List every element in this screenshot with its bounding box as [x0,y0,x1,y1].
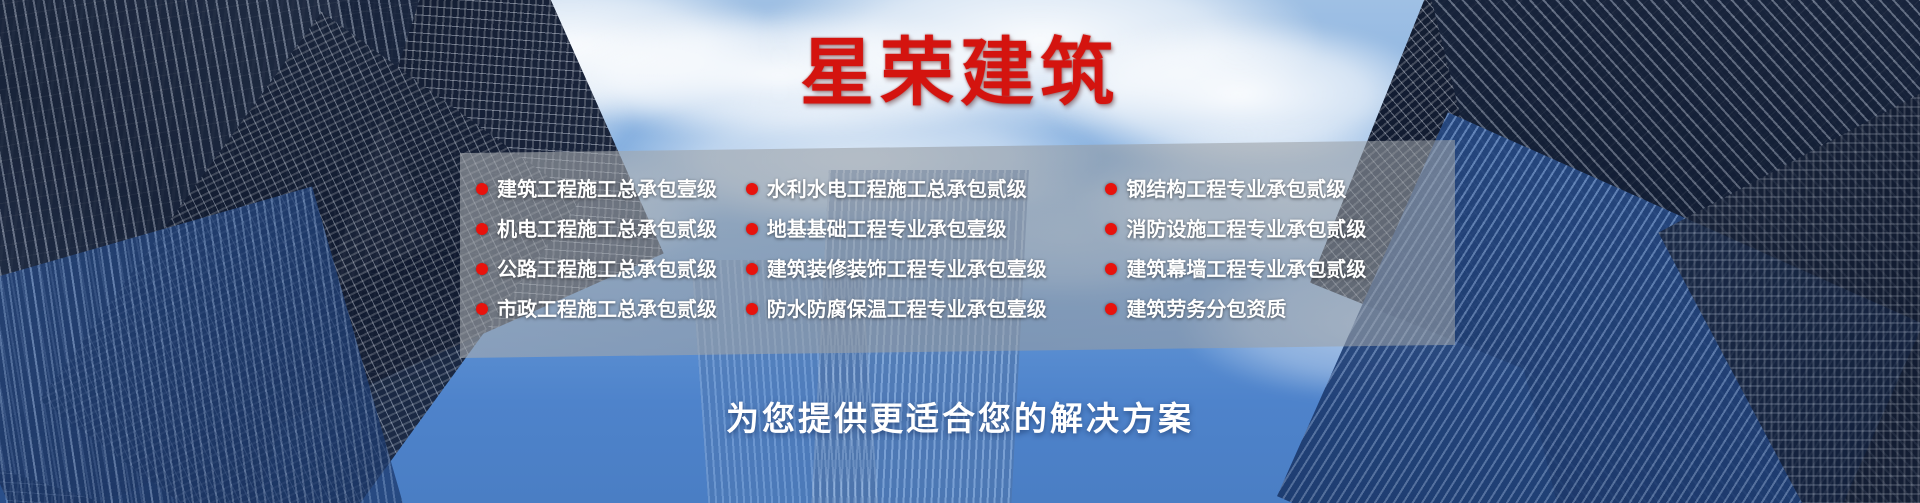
qualification-label: 水利水电工程施工总承包贰级 [767,178,1027,200]
qualification-item: 防水防腐保温工程专业承包壹级 [746,298,1106,320]
qualification-item: 建筑幕墙工程专业承包贰级 [1105,258,1455,280]
bullet-dot-icon [476,263,488,275]
qualification-label: 机电工程施工总承包贰级 [497,218,717,240]
banner-tagline: 为您提供更适合您的解决方案 [0,392,1920,440]
qualification-column-1: 建筑工程施工总承包壹级 机电工程施工总承包贰级 公路工程施工总承包贰级 市政工程… [460,178,746,320]
qualification-column-2: 水利水电工程施工总承包贰级 地基基础工程专业承包壹级 建筑装修装饰工程专业承包壹… [746,178,1106,320]
qualification-label: 建筑幕墙工程专业承包贰级 [1126,258,1366,280]
bullet-dot-icon [476,303,488,315]
bullet-dot-icon [746,223,758,235]
page-title: 星荣建筑 [0,36,1920,110]
bullet-dot-icon [746,183,758,195]
qualification-label: 钢结构工程专业承包贰级 [1126,178,1346,200]
qualification-item: 市政工程施工总承包贰级 [476,298,746,320]
qualification-label: 消防设施工程专业承包贰级 [1126,218,1366,240]
qualification-label: 防水防腐保温工程专业承包壹级 [767,298,1047,320]
bullet-dot-icon [746,263,758,275]
qualification-label: 建筑劳务分包资质 [1126,298,1286,320]
qualification-item: 消防设施工程专业承包贰级 [1105,218,1455,240]
qualification-item: 建筑劳务分包资质 [1105,298,1455,320]
qualification-item: 水利水电工程施工总承包贰级 [746,178,1106,200]
qualification-column-3: 钢结构工程专业承包贰级 消防设施工程专业承包贰级 建筑幕墙工程专业承包贰级 建筑… [1105,178,1455,320]
bullet-dot-icon [1105,223,1117,235]
hero-banner: 星荣建筑 建筑工程施工总承包壹级 机电工程施工总承包贰级 公路工程施工总承包贰级… [0,0,1920,503]
bullet-dot-icon [746,303,758,315]
qualification-panel: 建筑工程施工总承包壹级 机电工程施工总承包贰级 公路工程施工总承包贰级 市政工程… [460,140,1455,358]
qualification-label: 建筑装修装饰工程专业承包壹级 [767,258,1047,280]
qualification-label: 公路工程施工总承包贰级 [497,258,717,280]
bullet-dot-icon [476,183,488,195]
qualification-item: 建筑工程施工总承包壹级 [476,178,746,200]
bullet-dot-icon [1105,263,1117,275]
qualification-item: 钢结构工程专业承包贰级 [1105,178,1455,200]
qualification-label: 建筑工程施工总承包壹级 [497,178,717,200]
bullet-dot-icon [476,223,488,235]
qualification-item: 公路工程施工总承包贰级 [476,258,746,280]
qualification-item: 建筑装修装饰工程专业承包壹级 [746,258,1106,280]
qualification-item: 地基基础工程专业承包壹级 [746,218,1106,240]
bullet-dot-icon [1105,183,1117,195]
qualification-label: 地基基础工程专业承包壹级 [767,218,1007,240]
qualification-item: 机电工程施工总承包贰级 [476,218,746,240]
qualification-label: 市政工程施工总承包贰级 [497,298,717,320]
bullet-dot-icon [1105,303,1117,315]
